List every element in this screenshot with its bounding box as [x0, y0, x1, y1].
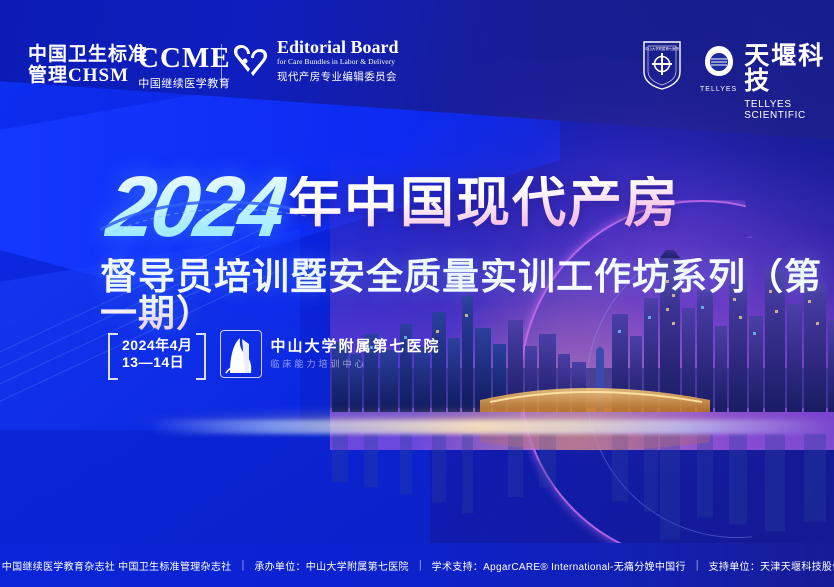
headline-title: 年中国现代产房: [288, 176, 680, 230]
event-meta: 2024年4月 13—14日 中山大学附属第七医院 临床能力培训中心: [108, 330, 440, 378]
footer-segment-sponsor: 支持单位：天津天堰科技股份有限公司: [699, 558, 834, 573]
footer-bar: 主办单位：中国继续医学教育杂志社 中国卫生标准管理杂志社 | 承办单位：中山大学…: [0, 543, 834, 587]
hospital-logo-icon: [220, 330, 262, 378]
ccme-acronym: CCME: [138, 44, 231, 73]
bracket-right: [196, 333, 206, 380]
tellyes-mark-label: TELLYES: [700, 86, 737, 93]
headline-year: 2024: [102, 164, 289, 250]
logo-ccme: CCME 中国继续医学教育: [138, 44, 231, 91]
university-shield-icon: 中山大学附属第七医院: [640, 38, 684, 92]
bracket-left: [108, 333, 118, 380]
chsm-line1: 中国卫生标准: [28, 44, 148, 65]
headline-subtitle: 督导员培训暨安全质量实训工作坊系列（第一期）: [100, 258, 834, 332]
logo-tellyes: TELLYES 天堰科技 TELLYES SCIENTIFIC: [700, 44, 834, 121]
venue-sub: 临床能力培训中心: [270, 357, 440, 370]
tellyes-en: TELLYES SCIENTIFIC: [744, 99, 834, 121]
city-reflection: [330, 425, 834, 545]
venue-name: 中山大学附属第七医院: [270, 338, 440, 355]
footer-segment-host: 承办单位：中山大学附属第七医院: [244, 558, 419, 573]
event-date: 2024年4月 13—14日: [108, 333, 206, 376]
tellyes-cn: 天堰科技: [744, 44, 834, 94]
water-line: [150, 420, 834, 434]
partner-logo-row: 中国卫生标准 管理CHSM CCME 中国继续医学教育 Editorial Bo…: [0, 0, 834, 130]
footer-segment-academic-support: 学术支持：ApgarCARE® International-无痛分娩中国行: [422, 558, 696, 573]
heart-icon: [231, 39, 271, 83]
date-line2: 13—14日: [122, 354, 192, 372]
eb-title: Editorial Board: [277, 38, 399, 57]
logo-divider: [221, 44, 222, 88]
svg-text:中山大学附属第七医院: 中山大学附属第七医院: [645, 46, 680, 51]
ccme-cn: 中国继续医学教育: [138, 75, 231, 91]
event-venue: 中山大学附属第七医院 临床能力培训中心: [220, 330, 440, 378]
eb-subtitle: for Care Bundles in Labor & Delivery: [277, 57, 399, 66]
logo-editorial-board: Editorial Board for Care Bundles in Labo…: [231, 38, 399, 84]
footer-segment-organizer: 主办单位：中国继续医学教育杂志社 中国卫生标准管理杂志社: [0, 558, 241, 573]
eb-cn: 现代产房专业编辑委员会: [277, 69, 399, 84]
logo-chsm: 中国卫生标准 管理CHSM: [28, 44, 148, 87]
tellyes-mark-icon: [702, 44, 736, 78]
date-line1: 2024年4月: [122, 337, 192, 355]
chsm-line2: 管理CHSM: [28, 65, 148, 86]
conference-poster: 中国卫生标准 管理CHSM CCME 中国继续医学教育 Editorial Bo…: [0, 0, 834, 587]
